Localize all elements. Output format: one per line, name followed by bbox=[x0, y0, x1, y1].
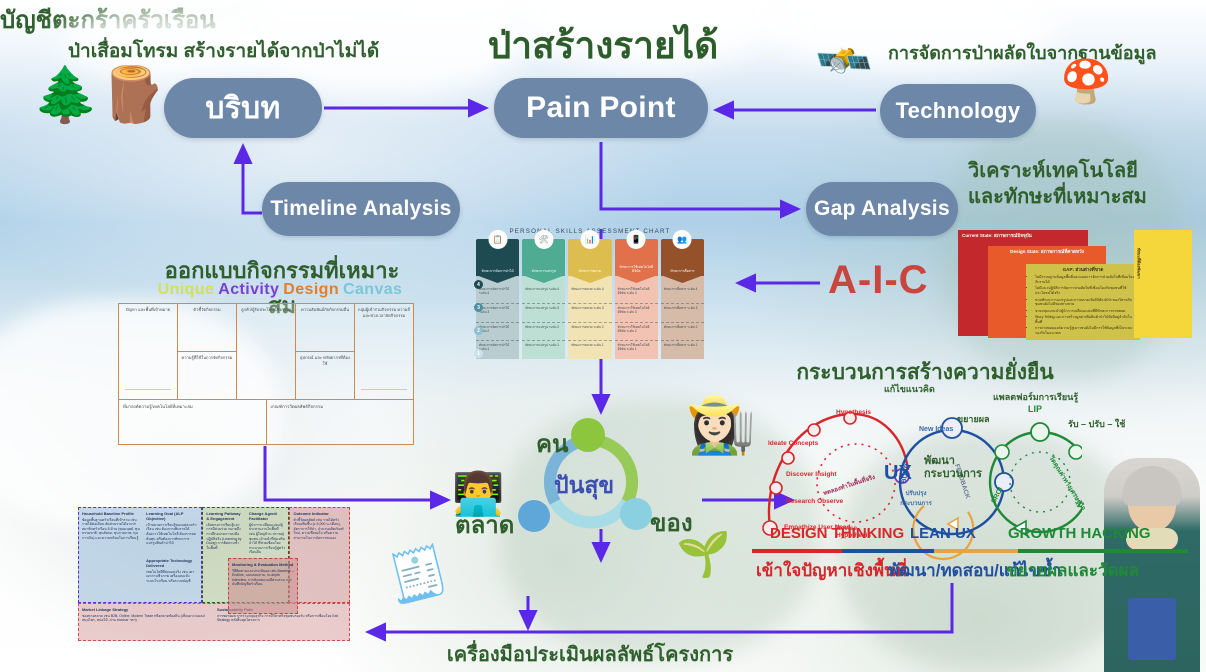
skills-level-cell: ทักษะการใช้เทคโนโลยีดิจิทัล ระดับ 4 bbox=[615, 285, 658, 303]
gap-item: การถ่ายทอดองค์ความรู้สู่เยาวชนยังไม่มีกา… bbox=[1035, 326, 1136, 336]
node-aic[interactable]: A-I-C bbox=[828, 258, 929, 303]
gap-analysis-cards: Current State: สภาพการณ์ปัจจุบัน Design … bbox=[958, 230, 1186, 336]
skills-column: 👥ทักษะการสื่อสารทักษะการสื่อสาร ระดับ 4ท… bbox=[661, 239, 704, 359]
skills-level-marker: 2 bbox=[474, 326, 483, 335]
gap-item: Story Telling และการสร้างมูลค่าเพิ่มสินค… bbox=[1035, 315, 1136, 325]
matrix-cell: Household Baseline Profile ข้อมูลพื้นฐาน… bbox=[79, 508, 143, 602]
canvas-cell: ลูกค้า/ผู้รับประโยชน์กิจกรรม bbox=[237, 304, 295, 399]
skills-level-cell: ทักษะการสื่อสาร ระดับ 1 bbox=[661, 340, 704, 359]
canvas-cell: ตัวชี้วัดกิจกรรม bbox=[178, 304, 236, 351]
matrix-top: Household Baseline Profile ข้อมูลพื้นฐาน… bbox=[78, 507, 350, 603]
design-state-title: Design State: สภาพการณ์ที่คาดหวัง bbox=[992, 249, 1102, 255]
gap-item: ไม่มีแนวปฏิบัติการจัดการป่าผลัดใบที่เชื่… bbox=[1035, 286, 1136, 296]
gap-title: GAP: ส่วนต่างที่ขาด bbox=[1030, 267, 1136, 273]
skills-columns: 📋ทักษะการจัดการป่าไม้ทักษะการจัดการป่าไม… bbox=[476, 239, 704, 359]
phase-lean-ux: LEAN UX bbox=[910, 525, 976, 542]
canvas-rule bbox=[361, 389, 407, 390]
label-market: ตลาด bbox=[455, 505, 514, 544]
skills-column-header: 📋ทักษะการจัดการป่าไม้ bbox=[476, 239, 519, 276]
phase-caption-growth-hacking: ขยายผลและวัดผล bbox=[1006, 557, 1139, 584]
gap-card: GAP: ส่วนต่างที่ขาด ไม่มีระบบฐานข้อมูลพื… bbox=[1026, 264, 1140, 340]
matrix-cell-header: Change Agent/ Facilitator bbox=[249, 511, 286, 521]
matrix-footer-body: ช่องทางตลาด เช่น B2B, Online, Modern Tra… bbox=[82, 614, 205, 623]
skills-level-cell: ทักษะการแปรรูป ระดับ 2 bbox=[522, 322, 565, 341]
skills-level-cell: ทักษะการแปรรูป ระดับ 1 bbox=[522, 340, 565, 359]
mobile-icon: 📱 bbox=[627, 230, 646, 249]
node-market-dot bbox=[518, 500, 550, 532]
gap-item: ขาดทักษะการแปรรูปและการตลาดเชิงดิจิทัล 8… bbox=[1035, 298, 1136, 308]
skills-level-cell: ทักษะการใช้เทคโนโลยีดิจิทัล ระดับ 3 bbox=[615, 303, 658, 322]
skills-level-cell: ทักษะการใช้เทคโนโลยีดิจิทัล ระดับ 2 bbox=[615, 322, 658, 341]
skills-level-cell: ทักษะการใช้เทคโนโลยีดิจิทัล ระดับ 1 bbox=[615, 340, 658, 359]
monitoring-evaluation-body: วิธีติดตามและประเมินผล เช่น Baseline – E… bbox=[232, 569, 294, 587]
person-book bbox=[1128, 598, 1176, 660]
matrix-subcol: Learning Goal (ALP Objective) เป้าหมายกา… bbox=[143, 508, 201, 602]
node-context[interactable]: บริบท bbox=[164, 78, 322, 138]
database-management-heading: การจัดการป่าผลัดใบจากฐานข้อมูล bbox=[888, 38, 1157, 67]
skills-level-marker: 1 bbox=[474, 349, 483, 358]
skills-to-develop-title: ทักษะที่ต้องพัฒนา bbox=[1136, 248, 1141, 279]
skills-column: 📱ทักษะการใช้เทคโนโลยีดิจิทัลทักษะการใช้เ… bbox=[615, 239, 658, 359]
matrix-cell-body: ตัวชี้วัดผลลัพธ์ เช่น รายได้ครัวเรือนเพิ… bbox=[293, 518, 343, 540]
skills-column-label: ทักษะการสื่อสาร bbox=[667, 269, 697, 273]
matrix-cell-body: ผู้นำการเปลี่ยนแปลง/ผู้ประสานงานในพื้นที… bbox=[249, 523, 285, 554]
monitoring-evaluation-card: Monitoring & Evaluation Method วิธีติดตา… bbox=[228, 558, 298, 614]
canvas-column: ความสัมพันธ์กับกิจกรรมอื่น อุปกรณ์ และ ท… bbox=[296, 304, 355, 399]
matrix-cell: Outcome Indicator ตัวชี้วัดผลลัพธ์ เช่น … bbox=[290, 508, 349, 602]
skills-column-label: ทักษะการใช้เทคโนโลยีดิจิทัล bbox=[615, 265, 658, 274]
canvas-cell: ปัญหา และพื้นที่เป้าหมาย bbox=[119, 304, 177, 380]
matrix-cell-body: เทคโนโลยีที่ส่งมอบจริง เช่น เตาเผาถ่านชี… bbox=[146, 570, 194, 583]
node-timeline-analysis[interactable]: Timeline Analysis bbox=[262, 182, 460, 236]
skills-column-header: 👥ทักษะการสื่อสาร bbox=[661, 239, 704, 276]
skills-column-body: ทักษะการแปรรูป ระดับ 4ทักษะการแปรรูป ระด… bbox=[522, 276, 565, 359]
skills-column-body: ทักษะการสื่อสาร ระดับ 4ทักษะการสื่อสาร ร… bbox=[661, 276, 704, 359]
node-gap-analysis[interactable]: Gap Analysis bbox=[806, 182, 958, 236]
label-new-ideas: New Ideas bbox=[919, 426, 953, 433]
label-lip: LIP bbox=[1028, 404, 1042, 414]
uadc-word-unique: Unique bbox=[158, 281, 215, 298]
skills-to-develop-card: ทักษะที่ต้องพัฒนา bbox=[1134, 230, 1192, 338]
label-ideate-concepts: Ideate Concepts bbox=[768, 440, 818, 447]
technology-analysis-line1: วิเคราะห์เทคโนโลยี bbox=[968, 158, 1147, 184]
canvas-rule bbox=[125, 389, 171, 390]
label-share-happiness: ปันสุข bbox=[554, 468, 614, 504]
canvas-cell: ความรู้ที่ใช้ในการจัดกิจกรรม bbox=[178, 351, 236, 399]
phase-design-thinking: DESIGN THINKING bbox=[770, 525, 904, 542]
canvas-column: กลุ่มผู้เข้าร่วมกิจกรรม ความถี่และช่วงเว… bbox=[355, 304, 413, 399]
person-hair bbox=[1122, 466, 1182, 506]
gap-item: ไม่มีระบบฐานข้อมูลพื้นที่และแผนการจัดการ… bbox=[1035, 275, 1136, 285]
project-evaluation-caption: เครื่องมือประเมินผลลัพธ์โครงการ bbox=[360, 638, 820, 670]
matrix-cell-body: เส้นทางการเรียนรู้และการมีส่วนร่วม หมายถ… bbox=[206, 523, 241, 550]
node-pain-point[interactable]: Pain Point bbox=[494, 78, 708, 138]
matrix-footer-body: การขยายผล การรวมกลุ่มธุรกิจ การมีวิสาหกิ… bbox=[217, 614, 338, 623]
label-process-development: พัฒนากระบวนการ bbox=[924, 455, 976, 480]
chart-icon: 📊 bbox=[581, 230, 600, 249]
skills-column-label: ทักษะการจัดการป่าไม้ bbox=[479, 269, 517, 273]
unique-activity-design-canvas-subtitle: UniqueActivityDesignCanvas bbox=[142, 281, 422, 299]
skills-level-cell: ทักษะการสื่อสาร ระดับ 2 bbox=[661, 322, 704, 341]
skills-level-cell: ทักษะการตลาด ระดับ 3 bbox=[568, 303, 611, 322]
evaluation-matrix: Household Baseline Profile ข้อมูลพื้นฐาน… bbox=[78, 507, 350, 641]
matrix-cell-header: Household Baseline Profile bbox=[82, 511, 140, 516]
skills-level-cell: ทักษะการตลาด ระดับ 1 bbox=[568, 340, 611, 359]
skills-column-body: ทักษะการใช้เทคโนโลยีดิจิทัล ระดับ 4ทักษะ… bbox=[615, 276, 658, 359]
gap-item: ขาดกลุ่มแกนนำ/ผู้นำการเปลี่ยนแปลงที่มีทั… bbox=[1035, 309, 1136, 314]
skills-column-label: ทักษะการตลาด bbox=[576, 269, 605, 273]
current-state-title: Current State: สภาพการณ์ปัจจุบัน bbox=[962, 233, 1084, 239]
matrix-cell-body: ข้อมูลพื้นฐานครัวเรือนที่เข้าร่วม เช่น ร… bbox=[82, 518, 140, 540]
skills-level-cell: ทักษะการแปรรูป ระดับ 3 bbox=[522, 303, 565, 322]
monitoring-evaluation-header: Monitoring & Evaluation Method bbox=[232, 562, 294, 567]
label-goods: ของ bbox=[650, 503, 693, 542]
node-goods-dot bbox=[620, 498, 652, 530]
label-learning-platform: แพลตฟอร์มการเรียนรู้ bbox=[993, 390, 1078, 404]
skills-column-header: 🛠ทักษะการแปรรูป bbox=[522, 239, 565, 276]
skills-column-label: ทักษะการแปรรูป bbox=[529, 269, 559, 273]
label-improve-process: ปรับปรุงกระบวนการ bbox=[896, 488, 936, 508]
skills-level-markers: 4321 bbox=[474, 280, 483, 358]
matrix-cell-body: เป้าหมายการเรียนรู้ของแต่ละครัวเรือน เช่… bbox=[146, 523, 196, 545]
skills-column-body: ทักษะการตลาด ระดับ 4ทักษะการตลาด ระดับ 3… bbox=[568, 276, 611, 359]
canvas-bottom-cell: เกณฑ์การวัดผลลัพธ์กิจกรรม bbox=[267, 400, 414, 444]
matrix-cell-header: Learning Goal (ALP Objective) bbox=[146, 511, 198, 521]
matrix-footer-header: Market Linkage Strategy bbox=[82, 607, 211, 612]
canvas-column: ตัวชี้วัดกิจกรรม ความรู้ที่ใช้ในการจัดกิ… bbox=[178, 304, 237, 399]
canvas-column: ปัญหา และพื้นที่เป้าหมาย bbox=[119, 304, 178, 399]
label-research-observe: Research Observe bbox=[786, 498, 843, 505]
label-ux: UX bbox=[884, 462, 912, 485]
matrix-group-purple: Household Baseline Profile ข้อมูลพื้นฐาน… bbox=[78, 507, 202, 603]
personal-skills-assessment-chart: PERSONAL SKILLS ASSESSMENT CHART 4321 📋ท… bbox=[476, 228, 704, 370]
activity-design-canvas-grid: ปัญหา และพื้นที่เป้าหมาย ตัวชี้วัดกิจกรร… bbox=[118, 303, 414, 445]
matrix-cell: Learning Goal (ALP Objective) เป้าหมายกา… bbox=[143, 508, 201, 555]
skills-column: 🛠ทักษะการแปรรูปทักษะการแปรรูป ระดับ 4ทัก… bbox=[522, 239, 565, 359]
phase-bar-transition bbox=[934, 549, 1018, 553]
skills-level-cell: ทักษะการแปรรูป ระดับ 4 bbox=[522, 285, 565, 303]
phase-bar-growth-hacking bbox=[1018, 549, 1188, 553]
canvas-bottom-row: ที่มาองค์ความรู้/เทคโนโลยีที่เหมาะสม เกณ… bbox=[119, 399, 413, 444]
matrix-group-red: Outcome Indicator ตัวชี้วัดผลลัพธ์ เช่น … bbox=[289, 507, 350, 603]
label-hypothesis: Hypothesis bbox=[836, 409, 871, 416]
skills-level-cell: ทักษะการสื่อสาร ระดับ 4 bbox=[661, 285, 704, 303]
uadc-word-activity: Activity bbox=[218, 281, 279, 298]
canvas-cell: ความสัมพันธ์กับกิจกรรมอื่น bbox=[296, 304, 354, 351]
uadc-word-design: Design bbox=[283, 281, 339, 298]
label-discover-insight: Discover Insight bbox=[786, 471, 837, 478]
phase-bar-lean-ux bbox=[842, 549, 934, 553]
skills-level-marker: 4 bbox=[474, 280, 483, 289]
canvas-column: ลูกค้า/ผู้รับประโยชน์กิจกรรม bbox=[237, 304, 296, 399]
label-people: คน bbox=[536, 424, 568, 463]
degraded-forest-heading: ป่าเสื่อมโทรม สร้างรายได้จากป่าไม่ได้ bbox=[68, 36, 379, 66]
label-revise-mindset: แก้ไขแนวคิด bbox=[884, 382, 935, 396]
matrix-cell: Appropriate Technology Delivered เทคโนโล… bbox=[143, 555, 201, 602]
infographic-canvas: ป่าสร้างรายได้ ป่าเสื่อมโทรม สร้างรายได้… bbox=[0, 0, 1206, 672]
technology-analysis-line2: และทักษะที่เหมาะสม bbox=[968, 184, 1147, 210]
matrix-cell-header: Outcome Indicator bbox=[293, 511, 346, 516]
node-people-dot bbox=[571, 418, 605, 452]
gap-items: ไม่มีระบบฐานข้อมูลพื้นที่และแผนการจัดการ… bbox=[1030, 275, 1136, 336]
phase-bar-design-thinking bbox=[752, 549, 842, 553]
skills-level-cell: ทักษะการตลาด ระดับ 4 bbox=[568, 285, 611, 303]
matrix-cell-header: Learning Pathway & Engagement bbox=[206, 511, 243, 521]
skills-level-marker: 3 bbox=[474, 303, 483, 312]
skills-column-header: 📊ทักษะการตลาด bbox=[568, 239, 611, 276]
phase-caption-design-thinking: เข้าใจปัญหาเชิงพื้นที่ bbox=[756, 557, 907, 584]
label-adopt-adapt-apply: รับ – ปรับ – ใช้ bbox=[1068, 417, 1125, 431]
calculator-icon: 🧾 bbox=[382, 540, 454, 610]
skills-column: 📊ทักษะการตลาดทักษะการตลาด ระดับ 4ทักษะกา… bbox=[568, 239, 611, 359]
skills-column-header: 📱ทักษะการใช้เทคโนโลยีดิจิทัล bbox=[615, 239, 658, 276]
woman-icon: 👩🏻‍🌾 bbox=[686, 392, 756, 458]
people-icon: 👥 bbox=[673, 230, 692, 249]
uadc-word-canvas: Canvas bbox=[343, 281, 402, 298]
skills-level-cell: ทักษะการสื่อสาร ระดับ 3 bbox=[661, 303, 704, 322]
tools-icon: 🛠 bbox=[534, 230, 553, 249]
label-scale-up: ขยายผล bbox=[957, 412, 990, 426]
phase-growth-hacking: GROWTH HACKING bbox=[1008, 525, 1151, 542]
skills-level-cell: ทักษะการตลาด ระดับ 2 bbox=[568, 322, 611, 341]
canvas-top-row: ปัญหา และพื้นที่เป้าหมาย ตัวชี้วัดกิจกรร… bbox=[119, 304, 413, 399]
clipboard-icon: 📋 bbox=[488, 230, 507, 249]
canvas-bottom-cell: ที่มาองค์ความรู้/เทคโนโลยีที่เหมาะสม bbox=[119, 400, 267, 444]
node-technology[interactable]: Technology bbox=[880, 84, 1036, 138]
technology-analysis-heading: วิเคราะห์เทคโนโลยี และทักษะที่เหมาะสม bbox=[968, 158, 1147, 210]
matrix-cell-header: Appropriate Technology Delivered bbox=[146, 558, 198, 568]
canvas-cell: อุปกรณ์ และ ทรัพยากรที่ต้องใช้ bbox=[296, 351, 354, 399]
matrix-footer-cell: Market Linkage Strategy ช่องทางตลาด เช่น… bbox=[79, 604, 214, 640]
canvas-cell: กลุ่มผู้เข้าร่วมกิจกรรม ความถี่และช่วงเว… bbox=[355, 304, 413, 380]
matrix-footer: Market Linkage Strategy ช่องทางตลาด เช่น… bbox=[78, 603, 350, 641]
